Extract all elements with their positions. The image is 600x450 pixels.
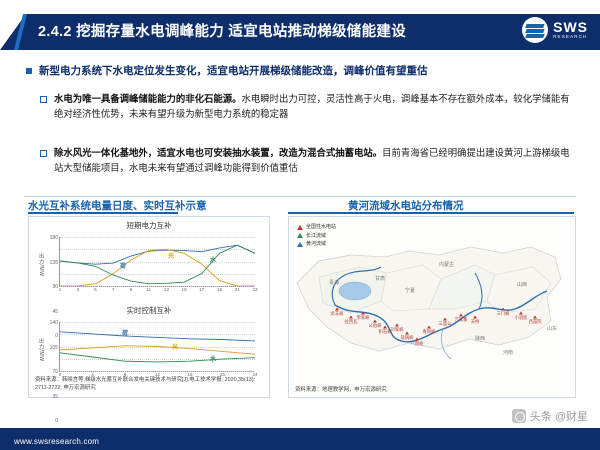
section-divider <box>24 196 576 197</box>
lead-text: 新型电力系统下水电定位发生变化，适宜电站开展梯级储能改造，调峰价值有望重估 <box>39 64 428 78</box>
province-label: 山西 <box>517 281 527 288</box>
chart-x-tick: 19 <box>217 287 222 292</box>
chart-2: 出力/MW 0357010514004812162024荷光水 <box>37 318 261 384</box>
paragraph-1: 水电为唯一具备调峰储能能力的非化石能源。水电瞬时出力可控，灵活性高于火电，调峰基… <box>54 92 574 121</box>
province-label: 河南 <box>503 349 513 356</box>
chart-x-tick: 7 <box>112 287 115 292</box>
sws-logo-sub: RESEARCH <box>553 35 588 40</box>
map-canvas: 全国性水电站 长江流域 黄河流域 龙羊峡拉西瓦李家峡公伯峡积石峡刘家峡盐锅峡八盘… <box>289 217 575 397</box>
page-title: 2.4.2 挖掘存量水电调峰能力 适宜电站推动梯级储能建设 <box>38 14 406 50</box>
slide: 2.4.2 挖掘存量水电调峰能力 适宜电站推动梯级储能建设 SWS RESEAR… <box>0 0 600 450</box>
footer-url: www.swsresearch.com <box>14 437 99 446</box>
chart-y-tick: 135 <box>50 260 58 266</box>
station-label: 青铜峡 <box>423 329 436 335</box>
triangle-marker-icon <box>297 225 303 230</box>
province-label: 陕西 <box>475 335 485 342</box>
station-label: 龙羊峡 <box>331 311 344 317</box>
sws-logo-icon <box>522 17 548 43</box>
station-label: 八盘峡 <box>411 341 424 347</box>
chart-x-tick: 15 <box>182 287 187 292</box>
chart-series-label: 光 <box>172 342 178 351</box>
legend-label-0: 全国性水电站 <box>306 223 336 232</box>
province-label: 内蒙古 <box>439 261 454 268</box>
sws-logo: SWS RESEARCH <box>522 17 588 43</box>
chart-1-plot: 045901351801357911131517192123荷光水 <box>59 237 255 287</box>
chart-series-line <box>60 249 255 286</box>
legend-label-1: 长江流域 <box>306 232 326 241</box>
station-label: 李家峡 <box>357 315 370 321</box>
sws-logo-text: SWS RESEARCH <box>553 20 588 40</box>
chart-1: 出力/MW 045901351801357911131517192123荷光水 <box>37 233 261 299</box>
watermark-logo-icon <box>512 409 526 423</box>
province-label: 山东 <box>547 325 557 332</box>
station-label: 三盛公 <box>439 321 452 327</box>
chart-y-tick: 105 <box>50 345 58 351</box>
chart-2-plot: 0357010514004812162024荷光水 <box>59 322 255 372</box>
qinghai-lake-shape <box>339 282 371 300</box>
legend-item-0: 全国性水电站 <box>297 223 336 232</box>
chart-series-label: 光 <box>168 251 174 260</box>
paragraph-row-1: 水电为唯一具备调峰储能能力的非化石能源。水电瞬时出力可控，灵活性高于火电，调峰基… <box>40 92 574 121</box>
chart-x-tick: 17 <box>199 287 204 292</box>
chart-2-ylabel: 出力/MW <box>38 338 45 362</box>
chart-y-tick: 140 <box>50 320 58 326</box>
sws-logo-name: SWS <box>553 20 588 35</box>
chart-series-line <box>60 332 255 341</box>
paragraph-1-bold: 水电为唯一具备调峰储能能力的非化石能源。 <box>54 93 242 104</box>
chart-gridline: 0 <box>60 286 255 287</box>
right-panel-source: 资料来源：地理教学网，申万宏源研究 <box>295 385 387 393</box>
left-panel-underline <box>28 212 178 214</box>
chart-1-title: 短期电力互补 <box>29 220 269 231</box>
right-map-panel: 全国性水电站 长江流域 黄河流域 龙羊峡拉西瓦李家峡公伯峡积石峡刘家峡盐锅峡八盘… <box>288 216 576 398</box>
lead-bullet-row: 新型电力系统下水电定位发生变化，适宜电站开展梯级储能改造，调峰价值有望重估 <box>26 64 576 78</box>
right-panel-underline <box>288 212 574 214</box>
chart-x-tick: 23 <box>252 287 257 292</box>
chart-y-tick: 90 <box>52 284 58 290</box>
chart-series-line <box>60 245 255 264</box>
province-label: 青海 <box>329 279 339 286</box>
chart-series-svg <box>60 237 255 286</box>
right-panel-title: 黄河流域水电站分布情况 <box>348 198 464 213</box>
paragraph-row-2: 除水风光一体化基地外，适宜水电也可安装抽水装置，改造为混合式抽蓄电站。目前青海省… <box>40 146 574 175</box>
bullet-hollow-square-icon <box>40 96 47 103</box>
left-panel-title: 水光互补系统电量日度、实时互补示意 <box>28 198 207 213</box>
chart-y-tick: 0 <box>55 418 58 424</box>
chart-y-tick: 45 <box>52 309 58 315</box>
watermark-text: 头条 @财星 <box>530 408 588 424</box>
triangle-marker-blue-icon <box>297 242 303 247</box>
chart-series-label: 荷 <box>120 261 126 270</box>
legend-label-2: 黄河流域 <box>306 240 326 249</box>
station-label: 天桥 <box>471 319 480 325</box>
chart-x-tick: 1 <box>59 287 62 292</box>
triangle-marker-green-icon <box>297 233 303 238</box>
station-label: 三门峡 <box>497 311 510 317</box>
chart-2-title: 实时控制互补 <box>29 305 269 316</box>
left-panel-source: 资料来源：韩晓言等.梯级水光蓄互补联合发电关键技术与研究[J].电工技术学报, … <box>35 377 264 393</box>
chart-x-tick: 13 <box>164 287 169 292</box>
chart-x-tick: 9 <box>130 287 133 292</box>
station-label: 积石峡 <box>379 329 392 335</box>
chart-series-label: 水 <box>210 255 216 264</box>
station-label: 刘家峡 <box>391 327 404 333</box>
legend-item-2: 黄河流域 <box>297 240 336 249</box>
province-label: 宁夏 <box>405 287 415 294</box>
paragraph-2-bold: 除水风光一体化基地外，适宜水电也可安装抽水装置，改造为混合式抽蓄电站。 <box>54 147 382 158</box>
province-label: 甘肃 <box>375 275 385 282</box>
station-label: 拉西瓦 <box>345 319 358 325</box>
chart-series-label: 荷 <box>122 328 128 337</box>
bullet-hollow-square-icon-2 <box>40 150 47 157</box>
slide-header: 2.4.2 挖掘存量水电调峰能力 适宜电站推动梯级储能建设 SWS RESEAR… <box>0 14 600 50</box>
bullet-square-icon <box>26 68 32 74</box>
left-chart-panel: 短期电力互补 出力/MW 045901351801357911131517192… <box>28 216 270 398</box>
chart-series-line <box>60 353 255 362</box>
legend-item-1: 长江流域 <box>297 232 336 241</box>
chart-series-svg <box>60 322 255 371</box>
chart-x-tick: 21 <box>235 287 240 292</box>
station-label: 万家寨 <box>455 317 468 323</box>
station-label: 西霞院 <box>529 319 542 325</box>
chart-y-tick: 35 <box>52 394 58 400</box>
chart-1-ylabel: 出力/MW <box>38 253 45 277</box>
chart-x-tick: 5 <box>94 287 97 292</box>
chart-x-tick: 11 <box>146 287 151 292</box>
paragraph-2: 除水风光一体化基地外，适宜水电也可安装抽水装置，改造为混合式抽蓄电站。目前青海省… <box>54 146 574 175</box>
chart-y-tick: 70 <box>52 369 58 375</box>
watermark: 头条 @财星 <box>512 408 588 424</box>
chart-series-label: 水 <box>210 354 216 363</box>
chart-series-line <box>60 346 255 354</box>
chart-y-tick: 180 <box>50 235 58 241</box>
chart-x-tick: 3 <box>76 287 79 292</box>
station-label: 小浪底 <box>515 315 528 321</box>
map-legend: 全国性水电站 长江流域 黄河流域 <box>297 223 336 249</box>
